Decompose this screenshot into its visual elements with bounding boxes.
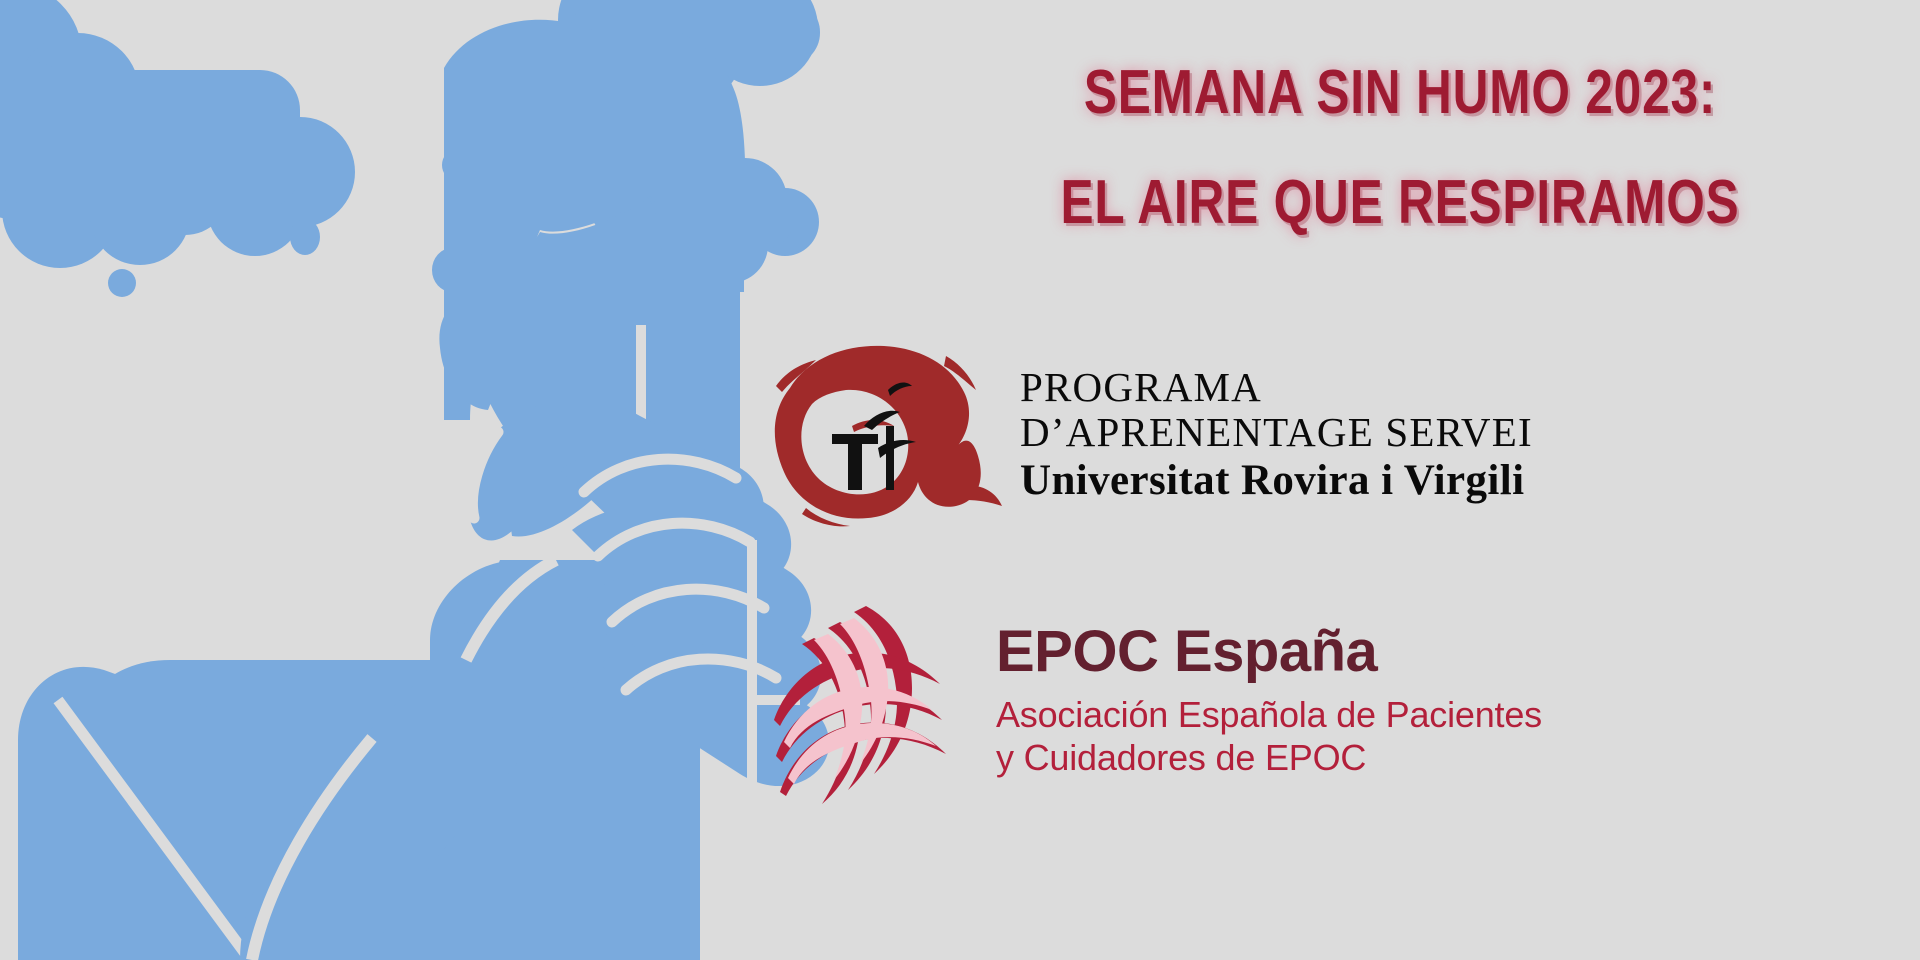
epoc-line-1: EPOC España [996, 622, 1542, 683]
urv-logo-block: PROGRAMA D’APRENENTAGE SERVEI Universita… [760, 330, 1920, 540]
headline-block: SEMANA SIN HUMO 2023: EL AIRE QUE RESPIR… [900, 62, 1900, 234]
content-column: SEMANA SIN HUMO 2023: EL AIRE QUE RESPIR… [900, 0, 1920, 960]
urv-line-1: PROGRAMA [1020, 365, 1533, 411]
epoc-line-2: Asociación Española de Pacientes [996, 693, 1542, 737]
headline-line-2: EL AIRE QUE RESPIRAMOS [1000, 172, 1800, 234]
epoc-swirl-icon [770, 596, 970, 806]
urv-logo-text: PROGRAMA D’APRENENTAGE SERVEI Universita… [1020, 365, 1533, 506]
poster-canvas: .blu{fill:#7aaadd;} [0, 0, 1920, 960]
epoc-line-3: y Cuidadores de EPOC [996, 736, 1542, 780]
urv-brush-at-symbol-icon [760, 330, 1010, 540]
headline-line-1: SEMANA SIN HUMO 2023: [1000, 62, 1800, 124]
smoke-dot-2 [290, 219, 320, 255]
epoc-logo-block: EPOC España Asociación Española de Pacie… [770, 596, 1920, 806]
epoc-logo-text: EPOC España Asociación Española de Pacie… [996, 622, 1542, 781]
urv-line-2: D’APRENENTAGE SERVEI [1020, 410, 1533, 456]
urv-line-3: Universitat Rovira i Virgili [1020, 456, 1533, 505]
smoke-dot-1 [108, 269, 136, 297]
